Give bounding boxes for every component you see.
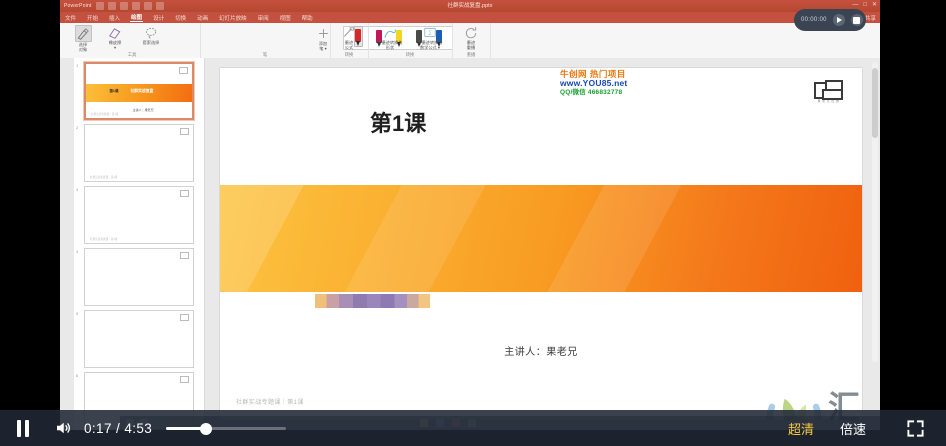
slide-thumbnail-2[interactable]: 社群实战专题课｜第2课 xyxy=(84,124,194,182)
tool-eraser[interactable]: 橡皮擦▾ xyxy=(104,25,126,50)
ink-to-math-button[interactable]: ∑ 将墨迹转换为数学公式 ▾ xyxy=(412,25,448,50)
tool-lasso[interactable]: 套索选择 xyxy=(140,25,162,46)
thumbnail-number: 3 xyxy=(76,187,78,192)
thumbnail-logo-icon xyxy=(180,314,189,321)
ribbon-tab-1[interactable]: 开始 xyxy=(86,14,99,22)
thumbnail-number: 6 xyxy=(76,373,78,378)
slide-watermark-top: 牛创网 热门项目 www.YOU85.net QQ/微信 466832778 xyxy=(560,70,627,97)
slide-corner-logo: 果老兄社群 xyxy=(814,80,844,106)
ribbon: 选择对象 橡皮擦▾ xyxy=(60,23,880,59)
time-display: 0:17 / 4:53 xyxy=(84,421,152,436)
volume-fill xyxy=(166,427,204,430)
speed-selector[interactable]: 倍速 xyxy=(840,419,866,438)
ribbon-tab-9[interactable]: 视图 xyxy=(279,14,292,22)
ribbon-tab-5[interactable]: 切换 xyxy=(174,14,187,22)
svg-text:∑: ∑ xyxy=(428,30,432,35)
watermark-line3: QQ/微信 466832778 xyxy=(560,88,627,97)
ribbon-group-pens: 添加笔 ▾ 笔 xyxy=(200,23,331,58)
slide-thumbnail-5[interactable] xyxy=(84,310,194,368)
thumbnail-number: 1 xyxy=(76,63,78,68)
tool-lasso-label: 套索选择 xyxy=(143,41,160,46)
video-content-area: PowerPoint 社群实战复盘.pptx — □ ✕ 文件开始插入绘图设计切… xyxy=(60,0,880,430)
ink-to-shape-icon xyxy=(342,25,357,40)
add-pen-label: 添加笔 ▾ xyxy=(319,42,327,51)
replay-icon xyxy=(464,25,479,40)
duration: 4:53 xyxy=(124,421,152,436)
recorder-stop-button[interactable] xyxy=(851,14,863,26)
slide-title-lesson: 第1课 xyxy=(370,106,426,138)
thumbnail-footer: 社群实战专题课｜第3课 xyxy=(90,237,117,241)
ribbon-tabs: 文件开始插入绘图设计切换动画幻灯片放映审阅视图帮助 xyxy=(64,12,314,23)
tool-eraser-label: 橡皮擦▾ xyxy=(109,41,122,50)
current-time: 0:17 xyxy=(84,421,112,436)
screen: PowerPoint 社群实战复盘.pptx — □ ✕ 文件开始插入绘图设计切… xyxy=(0,0,946,446)
thumbnail-number: 5 xyxy=(76,311,78,316)
minimize-button[interactable]: — xyxy=(852,1,858,9)
tool-select-object[interactable]: 选择对象 xyxy=(72,25,94,52)
slide-thumbnail-1[interactable]: 第1课社群实战复盘主讲人：果老兄社群实战专题课｜第1课 xyxy=(84,62,194,120)
share-button[interactable]: 共享 xyxy=(865,14,876,22)
slide-footer: 社群实战专题课｜第1课 xyxy=(236,397,304,406)
ribbon-tab-4[interactable]: 设计 xyxy=(152,14,165,22)
ink-to-shape-label: 将墨迹转换为形状 xyxy=(377,41,402,50)
thumbnail-title-lesson: 第1课 xyxy=(109,89,118,94)
ribbon-tab-2[interactable]: 插入 xyxy=(108,14,121,22)
tool-select-label: 选择对象 xyxy=(79,43,87,52)
ribbon-tab-10[interactable]: 帮助 xyxy=(301,14,314,22)
volume-on-icon xyxy=(53,419,73,437)
fullscreen-icon xyxy=(906,419,925,438)
thumbnail-number: 2 xyxy=(76,125,78,130)
recorder-play-button[interactable] xyxy=(833,14,845,26)
volume-knob[interactable] xyxy=(200,423,212,435)
thumbnail-title-main: 社群实战复盘 xyxy=(131,89,154,94)
thumbnail-logo-icon xyxy=(180,128,189,135)
screen-recorder-widget[interactable]: 00:00:00 xyxy=(794,9,866,31)
powerpoint-title-bar: PowerPoint 社群实战复盘.pptx — □ ✕ xyxy=(60,0,880,12)
ink-formula-button[interactable]: 墨迹公式 xyxy=(338,25,360,50)
slide-thumbnail-4[interactable] xyxy=(84,248,194,306)
watermark-line2: www.YOU85.net xyxy=(560,79,627,88)
ribbon-tab-7[interactable]: 幻灯片放映 xyxy=(218,14,248,22)
ribbon-tab-0[interactable]: 文件 xyxy=(64,14,77,22)
fullscreen-button[interactable] xyxy=(898,419,932,438)
ink-replay-label: 墨迹重播 xyxy=(467,41,475,50)
recorder-time: 00:00:00 xyxy=(801,17,827,23)
slide-editing-area: 牛创网 热门项目 www.YOU85.net QQ/微信 466832778 果… xyxy=(205,58,880,430)
slide-title-main: 社群实战复盘 xyxy=(480,102,648,141)
ink-replay-button[interactable]: 墨迹重播 xyxy=(460,25,482,50)
lasso-select-icon xyxy=(75,25,92,42)
thumbnail-speaker: 主讲人：果老兄 xyxy=(133,108,154,112)
ribbon-group-replay: 墨迹重播 重播 xyxy=(452,23,491,58)
redacted-mosaic-bar xyxy=(315,294,430,308)
window-controls: — □ ✕ xyxy=(852,1,877,9)
thumbnail-number: 4 xyxy=(76,249,78,254)
ribbon-tab-8[interactable]: 审阅 xyxy=(257,14,270,22)
ink-shape-icon xyxy=(383,25,398,40)
slide-thumbnail-pane[interactable]: 1第1课社群实战复盘主讲人：果老兄社群实战专题课｜第1课2社群实战专题课｜第2课… xyxy=(74,58,205,430)
quality-selector[interactable]: 超清 xyxy=(788,419,814,438)
pause-button[interactable] xyxy=(0,420,46,437)
slide-title-band xyxy=(220,185,862,292)
ink-to-math-label: 将墨迹转换为数学公式 ▾ xyxy=(417,41,442,50)
close-button[interactable]: ✕ xyxy=(872,1,877,9)
thumbnail-logo-icon xyxy=(180,376,189,383)
ink-formula-label: 墨迹公式 xyxy=(345,41,353,50)
document-title: 社群实战复盘.pptx xyxy=(60,1,880,9)
ink-to-shape-button[interactable]: 将墨迹转换为形状 xyxy=(372,25,408,50)
slide-canvas[interactable]: 牛创网 热门项目 www.YOU85.net QQ/微信 466832778 果… xyxy=(220,68,862,420)
ribbon-group-convert: 将墨迹转换为形状 ∑ 将墨迹转换为数学公式 ▾ 转换 xyxy=(368,23,453,58)
pause-icon xyxy=(17,420,30,437)
ink-math-icon: ∑ xyxy=(423,25,438,40)
volume-slider[interactable] xyxy=(166,421,286,435)
plus-icon xyxy=(316,26,331,41)
lasso-icon xyxy=(144,25,159,40)
volume-button[interactable] xyxy=(46,419,80,437)
slide-scrollbar-thumb[interactable] xyxy=(872,68,878,138)
thumbnail-title-band: 第1课社群实战复盘 xyxy=(86,84,192,102)
thumbnail-footer: 社群实战专题课｜第1课 xyxy=(91,112,118,116)
ribbon-group-tools: 选择对象 橡皮擦▾ xyxy=(64,23,201,58)
slide-thumbnail-3[interactable]: 社群实战专题课｜第3课 xyxy=(84,186,194,244)
ribbon-tab-3[interactable]: 绘图 xyxy=(130,13,143,22)
thumbnail-logo-icon xyxy=(180,190,189,197)
ribbon-group-ink-formula: 墨迹公式 转换 xyxy=(330,23,369,58)
eraser-icon xyxy=(108,25,123,40)
video-player-controls: 0:17 / 4:53 超清 倍速 xyxy=(0,410,946,446)
logo-mark-icon xyxy=(814,80,840,98)
time-separator: / xyxy=(116,421,120,436)
ribbon-tab-6[interactable]: 动画 xyxy=(196,14,209,22)
thumbnail-logo-icon xyxy=(179,67,188,74)
workspace: 1第1课社群实战复盘主讲人：果老兄社群实战专题课｜第1课2社群实战专题课｜第2课… xyxy=(60,58,880,430)
slide-speaker: 主讲人：果老兄 xyxy=(220,343,862,358)
thumbnail-footer: 社群实战专题课｜第2课 xyxy=(90,175,117,179)
thumbnail-logo-icon xyxy=(180,252,189,259)
maximize-button[interactable]: □ xyxy=(863,1,867,9)
